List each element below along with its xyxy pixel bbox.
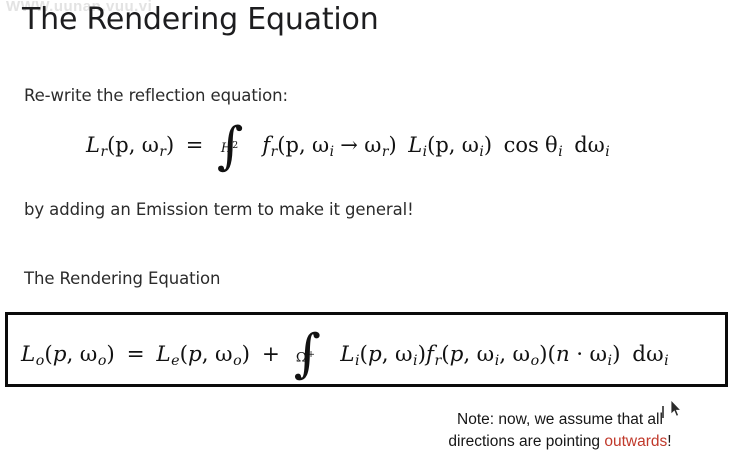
eq2-fr-p: p	[450, 342, 464, 367]
eq2-Le-w: ω	[215, 342, 233, 367]
eq1-f-wi-sub: i	[330, 146, 334, 160]
eq2-Li-comma: ,	[382, 342, 389, 367]
eq1-omega-sub: r	[159, 146, 166, 160]
eq2-Le: L	[156, 342, 170, 367]
intro-text: Re-write the reflection equation:	[24, 86, 288, 105]
eq2-fr-wo-sub: o	[531, 354, 540, 368]
eq1-d-omega: ω	[588, 133, 605, 157]
eq1-f-p: p	[286, 133, 299, 157]
eq1-d-omega-sub: i	[605, 146, 609, 160]
eq2-d-omega-sub: i	[664, 354, 669, 368]
eq2-Le-w-sub: o	[233, 354, 242, 368]
eq1-omega: ω	[142, 133, 159, 157]
eq2-plus: +	[262, 342, 280, 367]
reflection-equation: Lr(p,ωr)=∫H2fr(p,ωi→ωr)Li(p,ωi)cosθidωi	[86, 128, 610, 165]
eq1-integral-limit: H2	[221, 141, 238, 155]
eq2-Li-w: ω	[395, 342, 413, 367]
eq2-Li-open: (	[360, 342, 368, 367]
note-block: Note: now, we assume that all directions…	[395, 409, 725, 453]
eq2-n: n	[556, 342, 570, 367]
rendering-equation-box: Lo(p,ωo)=Le(p,ωo)+∫Ω+Li(p,ωi)fr(p,ωi,ωo)…	[5, 312, 728, 387]
eq1-cos: cos	[504, 133, 539, 157]
slide-canvas: WWW.uunan.vuu.vi The Rendering Equation …	[0, 0, 739, 456]
eq2-Li: L	[340, 342, 354, 367]
eq2-dot-op: ·	[576, 342, 583, 367]
eq1-Li-p: p	[435, 133, 448, 157]
eq2-Le-open: (	[180, 342, 188, 367]
eq2-fr-open: (	[441, 342, 449, 367]
eq2-limit-base: Ω	[296, 350, 307, 365]
eq1-f-wr: ω	[364, 133, 381, 157]
note-accent-outwards: outwards	[604, 433, 667, 450]
eq1-comma: ,	[129, 133, 136, 157]
eq2-Le-p: p	[188, 342, 202, 367]
eq1-L: L	[86, 133, 100, 157]
eq2-dot-w: ω	[590, 342, 608, 367]
eq1-f-close: )	[388, 133, 396, 157]
eq1-Li-comma: ,	[449, 133, 456, 157]
eq1-Li-w: ω	[462, 133, 479, 157]
eq2-Le-sub: e	[171, 354, 179, 368]
note-line-2-suffix: !	[667, 433, 671, 450]
eq2-equals: =	[127, 342, 145, 367]
eq1-arrow: →	[340, 133, 358, 157]
eq1-theta: θ	[545, 133, 558, 157]
eq1-integral: ∫H2	[217, 128, 243, 165]
eq1-Li: L	[408, 133, 422, 157]
rendering-equation: Lo(p,ωo)=Le(p,ωo)+∫Ω+Li(p,ωi)fr(p,ωi,ωo)…	[21, 336, 669, 374]
eq2-Lo: L	[21, 342, 35, 367]
eq1-d: d	[574, 133, 587, 157]
eq1-limit-exp: 2	[232, 140, 238, 151]
note-line-1: Note: now, we assume that all	[395, 409, 725, 431]
eq1-Li-close: )	[484, 133, 492, 157]
eq2-Lo-open: (	[44, 342, 52, 367]
eq2-fr-comma1: ,	[463, 342, 470, 367]
note-line-2: directions are pointing outwards!	[395, 431, 725, 453]
eq2-fr-close: )	[539, 342, 547, 367]
eq2-Lo-comma: ,	[66, 342, 73, 367]
section-label: The Rendering Equation	[24, 269, 220, 288]
eq2-dot-open: (	[548, 342, 556, 367]
eq1-f-comma1: ,	[299, 133, 306, 157]
note-line-2-prefix: directions are pointing	[448, 433, 604, 450]
eq1-f: f	[262, 133, 270, 157]
eq2-fr-comma2: ,	[499, 342, 506, 367]
eq2-Le-comma: ,	[202, 342, 209, 367]
eq2-Le-close: )	[242, 342, 250, 367]
eq2-fr-wo: ω	[513, 342, 531, 367]
eq2-fr-wi: ω	[477, 342, 495, 367]
eq1-theta-sub: i	[558, 146, 562, 160]
eq2-Lo-w: ω	[80, 342, 98, 367]
text-caret	[662, 406, 664, 418]
eq1-f-wi: ω	[312, 133, 329, 157]
eq2-d-omega: ω	[646, 342, 664, 367]
eq2-Lo-p: p	[53, 342, 67, 367]
page-title: The Rendering Equation	[22, 2, 379, 37]
eq1-equals: =	[186, 133, 204, 157]
eq2-d: d	[632, 342, 646, 367]
eq1-f-open: (	[277, 133, 285, 157]
eq2-Lo-close: )	[106, 342, 114, 367]
eq2-Li-p: p	[368, 342, 382, 367]
eq2-dot-close: )	[612, 342, 620, 367]
transition-text: by adding an Emission term to make it ge…	[24, 200, 414, 219]
eq1-limit-base: H	[221, 141, 232, 156]
eq1-paren-close: )	[166, 133, 174, 157]
eq2-integral-limit: Ω+	[296, 350, 315, 365]
eq1-p: p	[115, 133, 128, 157]
eq2-fr: f	[426, 342, 434, 367]
eq2-limit-exp: +	[307, 349, 315, 360]
eq2-integral: ∫Ω+	[294, 336, 321, 374]
eq2-Li-close: )	[418, 342, 426, 367]
